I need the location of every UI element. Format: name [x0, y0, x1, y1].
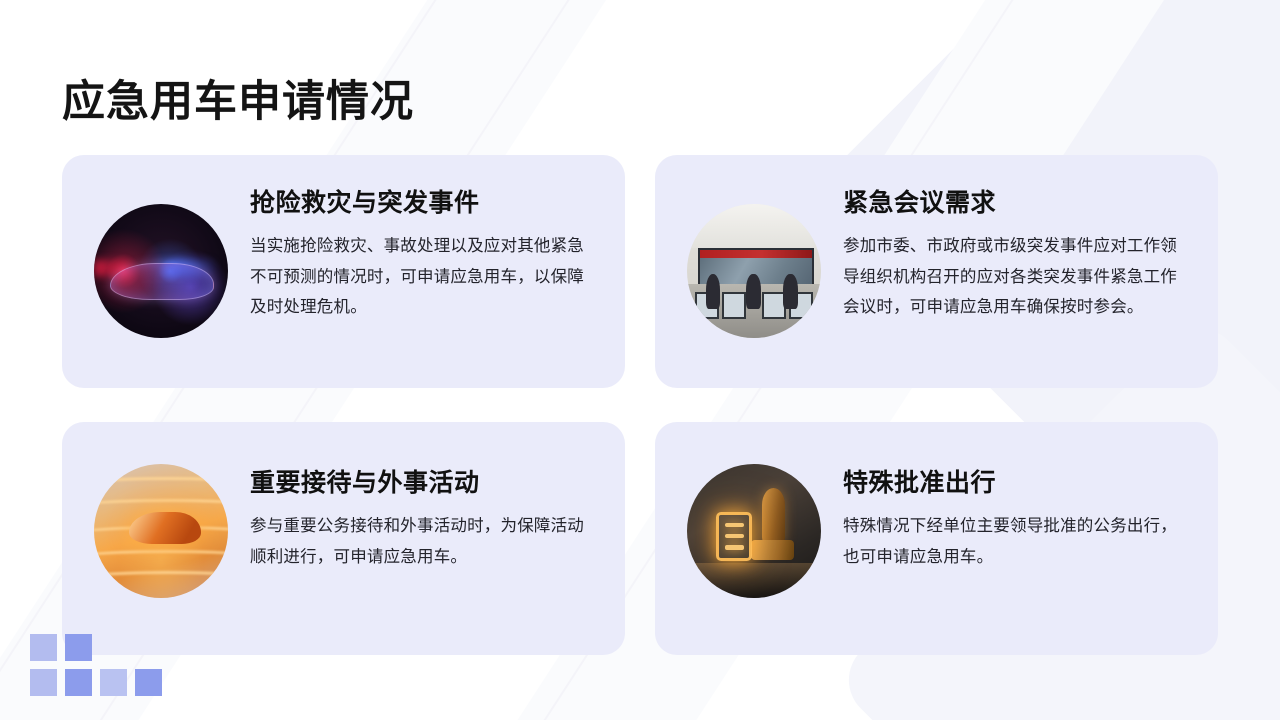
card-body: 紧急会议需求 参加市委、市政府或市级突发事件应对工作领导组织机构召开的应对各类突… [821, 155, 1218, 323]
card-body: 抢险救灾与突发事件 当实施抢险救灾、事故处理以及应对其他紧急不可预测的情况时，可… [228, 155, 625, 323]
golden-car-light-trails-photo [94, 464, 228, 598]
card-special-approval[interactable]: 特殊批准出行 特殊情况下经单位主要领导批准的公务出行，也可申请应急用车。 [655, 422, 1218, 655]
decorative-square-row-1 [30, 634, 162, 661]
card-description: 特殊情况下经单位主要领导批准的公务出行，也可申请应急用车。 [843, 511, 1188, 572]
police-car-night-lights-photo [94, 204, 228, 338]
card-body: 特殊批准出行 特殊情况下经单位主要领导批准的公务出行，也可申请应急用车。 [821, 422, 1218, 572]
card-title: 重要接待与外事活动 [250, 468, 595, 499]
card-body: 重要接待与外事活动 参与重要公务接待和外事活动时，为保障活动顺利进行，可申请应急… [228, 422, 625, 572]
card-title: 紧急会议需求 [843, 188, 1188, 219]
card-title: 特殊批准出行 [843, 468, 1188, 499]
command-control-room-photo [687, 204, 821, 338]
card-urgent-meeting[interactable]: 紧急会议需求 参加市委、市政府或市级突发事件应对工作领导组织机构召开的应对各类突… [655, 155, 1218, 388]
decorative-square-row-2 [30, 669, 162, 696]
card-description: 参加市委、市政府或市级突发事件应对工作领导组织机构召开的应对各类突发事件紧急工作… [843, 231, 1188, 323]
decorative-square [30, 669, 57, 696]
cards-grid: 抢险救灾与突发事件 当实施抢险救灾、事故处理以及应对其他紧急不可预测的情况时，可… [62, 155, 1218, 655]
decorative-square [65, 669, 92, 696]
golden-approval-stamp-photo [687, 464, 821, 598]
decorative-square [30, 634, 57, 661]
decorative-square-grid [30, 634, 162, 704]
decorative-square [135, 669, 162, 696]
card-title: 抢险救灾与突发事件 [250, 188, 595, 219]
decorative-square [65, 634, 92, 661]
card-description: 当实施抢险救灾、事故处理以及应对其他紧急不可预测的情况时，可申请应急用车，以保障… [250, 231, 595, 323]
page-title: 应急用车申请情况 [62, 77, 414, 129]
card-description: 参与重要公务接待和外事活动时，为保障活动顺利进行，可申请应急用车。 [250, 511, 595, 572]
decorative-square [100, 669, 127, 696]
card-emergency-rescue[interactable]: 抢险救灾与突发事件 当实施抢险救灾、事故处理以及应对其他紧急不可预测的情况时，可… [62, 155, 625, 388]
card-important-reception[interactable]: 重要接待与外事活动 参与重要公务接待和外事活动时，为保障活动顺利进行，可申请应急… [62, 422, 625, 655]
